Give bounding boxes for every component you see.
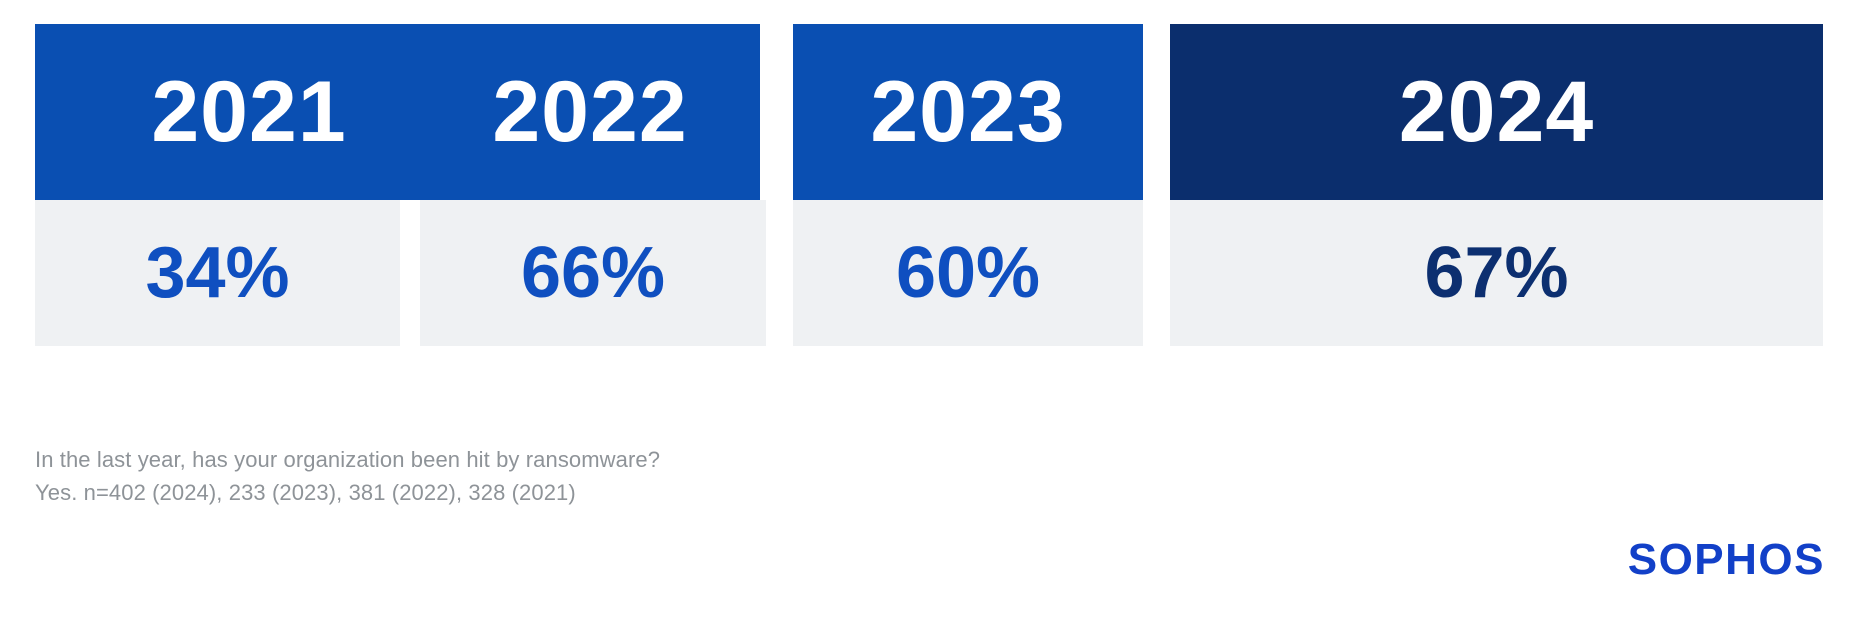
stat-card-2024: 2024 67%: [1170, 24, 1823, 346]
stat-card-value-label: 66%: [521, 237, 665, 309]
stat-card-header-2022: 2022: [420, 24, 760, 200]
infographic-canvas: 2021 34% 2022 66% 2023 60%: [0, 0, 1871, 630]
stat-card-header-2021: 2021: [35, 24, 463, 200]
sophos-logo: SOPHOS: [1628, 538, 1825, 582]
stat-card-header-2024: 2024: [1170, 24, 1823, 200]
chart-caption: In the last year, has your organization …: [35, 443, 1135, 509]
stat-card-2022: 2022 66%: [420, 24, 766, 346]
stat-card-year-label: 2024: [1399, 69, 1594, 155]
stat-card-body-2023: 60%: [793, 200, 1143, 346]
stat-card-2023: 2023 60%: [793, 24, 1143, 346]
stat-card-body-2024: 67%: [1170, 200, 1823, 346]
stat-card-body-2021: 34%: [35, 200, 400, 346]
stat-card-year-label: 2022: [492, 69, 687, 155]
stat-card-value-label: 60%: [896, 237, 1040, 309]
stat-card-year-label: 2023: [870, 69, 1065, 155]
stat-card-body-2022: 66%: [420, 200, 766, 346]
caption-sample-size-line: Yes. n=402 (2024), 233 (2023), 381 (2022…: [35, 476, 1135, 509]
stat-card-header-2023: 2023: [793, 24, 1143, 200]
year-stat-card-row: 2021 34% 2022 66% 2023 60%: [0, 0, 1871, 400]
stat-card-value-label: 34%: [145, 237, 289, 309]
stat-card-year-label: 2021: [151, 69, 346, 155]
caption-question-line: In the last year, has your organization …: [35, 443, 1135, 476]
stat-card-value-label: 67%: [1424, 237, 1568, 309]
stat-card-2021: 2021 34%: [35, 24, 463, 346]
